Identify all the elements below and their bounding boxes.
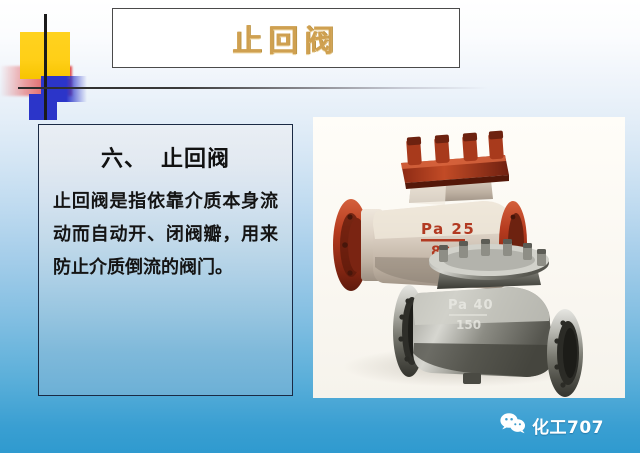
vertical-black-bar	[44, 14, 47, 120]
check-valve-photograph: Pa 25 80	[313, 117, 625, 398]
slide-title-box: 止回阀	[112, 8, 460, 68]
card-body-text: 止回阀是指依靠介质本身流动而自动开、闭阀瓣，用来防止介质倒流的阀门。	[53, 185, 278, 284]
header-divider-line	[18, 87, 488, 89]
watermark: 化工707	[500, 410, 632, 440]
svg-text:Pa 40: Pa 40	[448, 298, 494, 313]
wechat-icon	[500, 412, 526, 438]
card-heading-number: 六、	[101, 147, 147, 172]
blue-square	[29, 94, 57, 120]
card-heading: 六、止回阀	[53, 141, 278, 173]
card-heading-text: 止回阀	[161, 147, 230, 172]
watermark-label: 化工707	[532, 413, 604, 438]
svg-text:Pa 25: Pa 25	[421, 220, 475, 238]
page-title: 止回阀	[232, 16, 340, 60]
svg-text:150: 150	[456, 318, 481, 332]
definition-card: 六、止回阀 止回阀是指依靠介质本身流动而自动开、闭阀瓣，用来防止介质倒流的阀门。	[38, 124, 293, 396]
corner-decoration	[0, 14, 118, 120]
